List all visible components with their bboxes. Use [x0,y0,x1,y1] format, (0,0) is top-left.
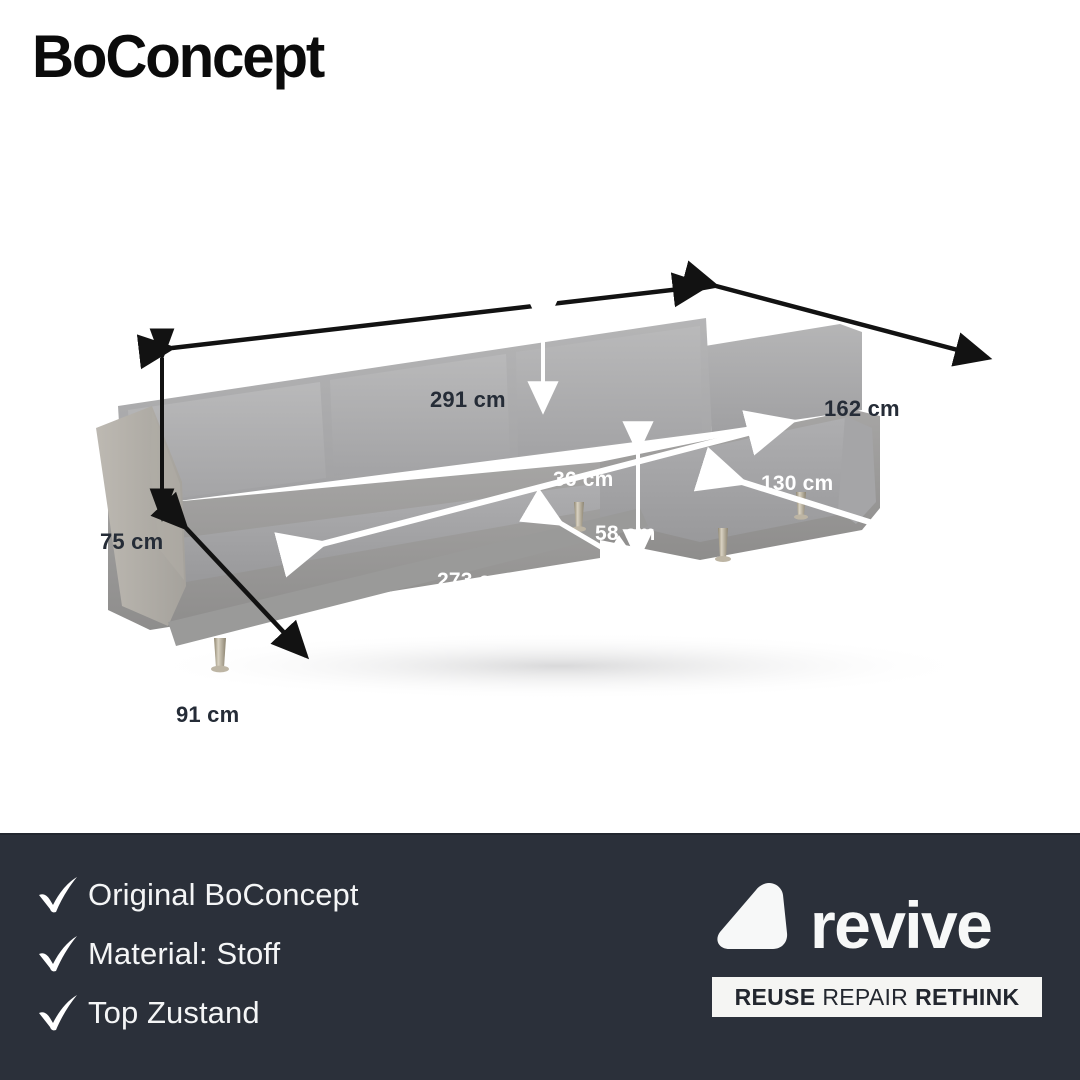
dimension-label-seat-width: 273 cm [437,569,509,593]
revive-logo: revive REUSE REPAIR RETHINK [712,875,1042,1017]
feature-item: Material: Stoff [30,924,590,983]
check-icon [30,993,88,1033]
dimension-label-depth: 162 cm [824,396,900,422]
feature-list: Original BoConcept Material: Stoff Top Z… [30,865,590,1042]
revive-wordmark: revive [810,892,991,958]
feature-label: Top Zustand [88,995,260,1031]
feature-item: Original BoConcept [30,865,590,924]
dimension-label-side-depth: 91 cm [176,702,239,728]
feature-label: Original BoConcept [88,877,359,913]
revive-tagline: REUSE REPAIR RETHINK [712,977,1042,1017]
check-icon [30,934,88,974]
product-image-card: BoConcept [0,0,1080,1080]
footer-banner: Original BoConcept Material: Stoff Top Z… [0,833,1080,1080]
product-illustration: 291 cm 162 cm 75 cm 91 cm 36 cm 130 cm 5… [0,110,1080,833]
tagline-word-rethink: RETHINK [915,984,1019,1011]
brand-logo: BoConcept [32,22,323,91]
dimension-label-seat-height: 43 cm [575,611,636,635]
dimension-label-chaise: 130 cm [761,472,833,496]
revive-logo-row: revive [712,875,1042,967]
feature-label: Material: Stoff [88,936,280,972]
dimension-label-seat-depth: 58 cm [595,522,656,546]
leaf-mark-icon [712,877,796,966]
feature-item: Top Zustand [30,983,590,1042]
tagline-word-reuse: REUSE [735,984,816,1011]
floor-shadow [140,632,980,700]
dimension-label-width: 291 cm [430,387,506,413]
tagline-word-repair: REPAIR [822,984,908,1011]
leg-front-left [214,638,226,668]
check-icon [30,875,88,915]
dimension-label-backrest: 36 cm [553,468,614,492]
dimension-label-height: 75 cm [100,529,163,555]
footer-divider [0,833,1080,835]
